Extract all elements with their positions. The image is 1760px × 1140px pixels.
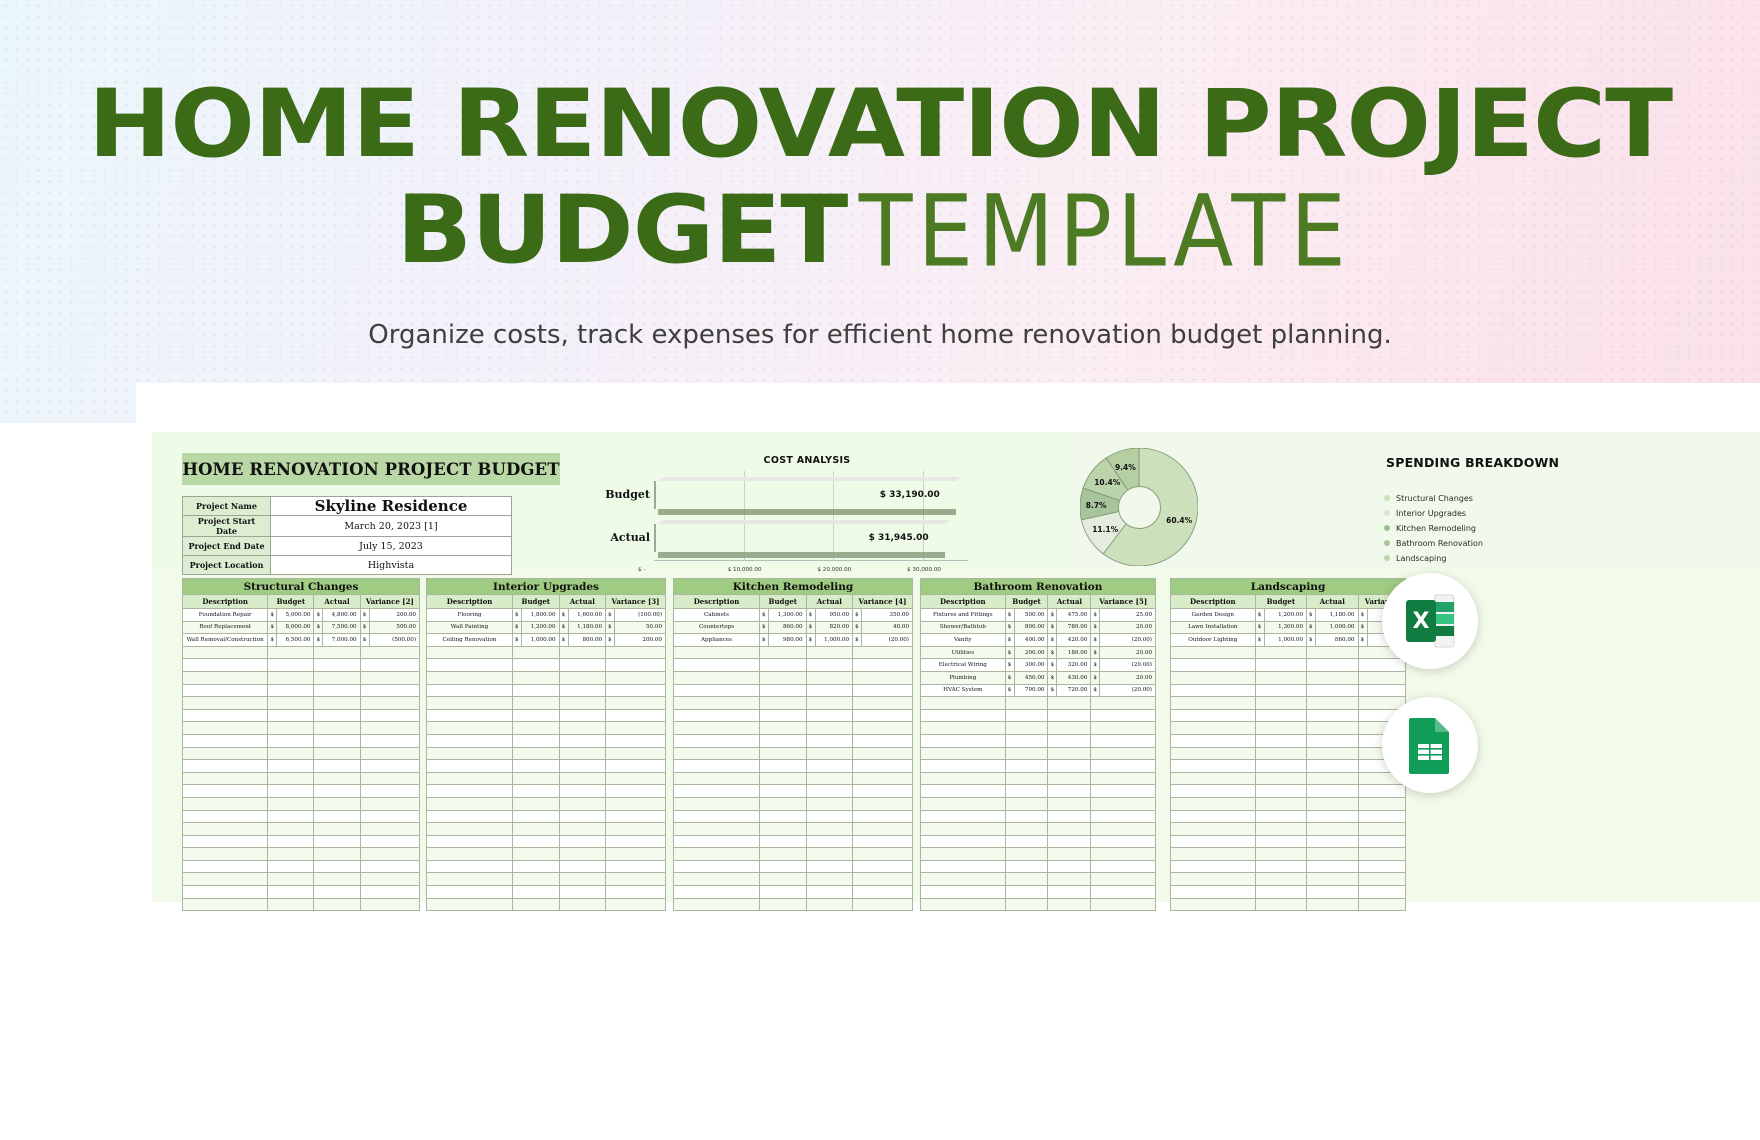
table-row-empty[interactable] <box>427 659 666 672</box>
cell-budget[interactable]: 6,500.00 <box>277 634 314 647</box>
cell-actual[interactable] <box>1048 722 1091 735</box>
cell-budget[interactable] <box>268 835 314 848</box>
cell-actual[interactable] <box>314 646 360 659</box>
table-row-empty[interactable] <box>674 734 913 747</box>
cell-description[interactable]: HVAC System <box>921 684 1006 697</box>
cell-description[interactable] <box>183 646 268 659</box>
cell-budget[interactable]: 500.00 <box>1014 609 1048 622</box>
table-row-empty[interactable] <box>183 886 420 899</box>
cell-description[interactable] <box>1171 860 1256 873</box>
cell-variance[interactable] <box>360 848 419 861</box>
cell-budget[interactable] <box>1005 760 1048 773</box>
cell-actual[interactable] <box>1307 734 1358 747</box>
cell-budget[interactable] <box>1255 873 1306 886</box>
cell-variance[interactable] <box>1091 797 1156 810</box>
cell-actual[interactable] <box>806 848 853 861</box>
table-row-empty[interactable] <box>921 722 1156 735</box>
table-row-empty[interactable] <box>183 898 420 911</box>
cell-budget[interactable] <box>268 659 314 672</box>
cell-variance[interactable] <box>1091 848 1156 861</box>
cell-actual[interactable]: 860.00 <box>1316 634 1358 647</box>
cell-variance[interactable] <box>853 747 913 760</box>
table-row[interactable]: Vanity$400.00$420.00$(20.00) <box>921 634 1156 647</box>
table-row-empty[interactable] <box>427 860 666 873</box>
table-row-empty[interactable] <box>427 684 666 697</box>
table-row[interactable]: Plumbing$450.00$430.00$20.00 <box>921 671 1156 684</box>
cell-variance[interactable] <box>360 873 419 886</box>
table-row-empty[interactable] <box>1171 722 1406 735</box>
table-row-empty[interactable] <box>183 835 420 848</box>
cell-actual[interactable] <box>806 747 853 760</box>
cell-budget[interactable] <box>1005 848 1048 861</box>
table-row-empty[interactable] <box>427 797 666 810</box>
cell-actual[interactable] <box>314 886 360 899</box>
column-header[interactable]: Variance [3] <box>606 595 666 609</box>
table-row-empty[interactable] <box>921 785 1156 798</box>
cell-variance[interactable] <box>360 785 419 798</box>
cell-variance[interactable]: 20.00 <box>1100 646 1156 659</box>
cell-actual[interactable]: 7,500.00 <box>323 621 360 634</box>
cell-variance[interactable] <box>606 734 666 747</box>
cell-actual[interactable]: 1,180.00 <box>568 621 606 634</box>
table-row-empty[interactable] <box>427 697 666 710</box>
cell-description[interactable]: Cabinets <box>674 609 760 622</box>
cell-actual[interactable] <box>1048 823 1091 836</box>
cell-description[interactable] <box>921 860 1006 873</box>
cell-budget[interactable]: 300.00 <box>1014 659 1048 672</box>
table-row-empty[interactable] <box>427 785 666 798</box>
table-row-empty[interactable] <box>1171 734 1406 747</box>
table-row-empty[interactable] <box>427 848 666 861</box>
cell-actual[interactable]: 4,800.00 <box>323 609 360 622</box>
cell-description[interactable] <box>674 860 760 873</box>
cell-budget[interactable] <box>760 659 807 672</box>
cell-actual[interactable]: 1,000.00 <box>815 634 853 647</box>
cell-variance[interactable] <box>853 697 913 710</box>
cell-actual[interactable] <box>806 760 853 773</box>
table-row-empty[interactable] <box>1171 848 1406 861</box>
cell-actual[interactable] <box>1307 860 1358 873</box>
cell-description[interactable] <box>183 684 268 697</box>
cell-variance[interactable]: 200.00 <box>615 634 666 647</box>
cell-description[interactable]: Wall Removal/Construction <box>183 634 268 647</box>
cell-variance[interactable] <box>1091 734 1156 747</box>
cell-actual[interactable] <box>559 886 606 899</box>
table-row-empty[interactable] <box>183 797 420 810</box>
project-info-value[interactable]: July 15, 2023 <box>271 537 512 556</box>
cell-budget[interactable] <box>1005 747 1048 760</box>
cell-actual[interactable] <box>806 898 853 911</box>
cell-actual[interactable] <box>314 785 360 798</box>
cell-variance[interactable] <box>1358 835 1406 848</box>
cell-variance[interactable]: 40.00 <box>862 621 913 634</box>
cell-budget[interactable] <box>1005 772 1048 785</box>
cell-budget[interactable] <box>513 722 560 735</box>
cell-budget[interactable] <box>268 646 314 659</box>
cell-variance[interactable] <box>1091 810 1156 823</box>
cell-variance[interactable] <box>853 873 913 886</box>
table-row-empty[interactable] <box>183 697 420 710</box>
cell-actual[interactable] <box>1307 810 1358 823</box>
table-row-empty[interactable] <box>1171 860 1406 873</box>
cell-budget[interactable] <box>513 709 560 722</box>
cell-description[interactable] <box>183 873 268 886</box>
cell-description[interactable] <box>674 848 760 861</box>
cell-description[interactable] <box>427 898 513 911</box>
cell-budget[interactable] <box>513 760 560 773</box>
cell-budget[interactable]: 200.00 <box>1014 646 1048 659</box>
cell-actual[interactable] <box>1048 709 1091 722</box>
table-row-empty[interactable] <box>427 873 666 886</box>
cell-budget[interactable] <box>1005 873 1048 886</box>
cell-description[interactable] <box>921 785 1006 798</box>
cell-budget[interactable] <box>760 860 807 873</box>
cell-actual[interactable] <box>806 860 853 873</box>
cell-variance[interactable] <box>360 659 419 672</box>
table-row-empty[interactable] <box>1171 898 1406 911</box>
table-row-empty[interactable] <box>1171 760 1406 773</box>
table-row-empty[interactable] <box>921 709 1156 722</box>
cell-description[interactable] <box>183 810 268 823</box>
cell-description[interactable]: Plumbing <box>921 671 1006 684</box>
cell-variance[interactable] <box>1091 772 1156 785</box>
cell-actual[interactable]: 7,000.00 <box>323 634 360 647</box>
table-row-empty[interactable] <box>674 873 913 886</box>
cell-actual[interactable] <box>314 697 360 710</box>
table-row-empty[interactable] <box>183 747 420 760</box>
cell-variance[interactable] <box>853 709 913 722</box>
cell-description[interactable] <box>427 835 513 848</box>
cell-variance[interactable] <box>1091 747 1156 760</box>
cell-actual[interactable] <box>1307 823 1358 836</box>
cell-description[interactable]: Lawn Installation <box>1171 621 1256 634</box>
cell-budget[interactable] <box>268 886 314 899</box>
table-row-empty[interactable] <box>1171 772 1406 785</box>
table-row-empty[interactable] <box>183 823 420 836</box>
table-row-empty[interactable] <box>427 671 666 684</box>
cell-actual[interactable]: 430.00 <box>1057 671 1091 684</box>
cell-budget[interactable] <box>268 823 314 836</box>
cell-description[interactable] <box>921 697 1006 710</box>
cell-variance[interactable] <box>853 659 913 672</box>
cell-budget[interactable] <box>513 848 560 861</box>
cell-description[interactable] <box>183 709 268 722</box>
table-row-empty[interactable] <box>1171 684 1406 697</box>
cell-variance[interactable] <box>360 835 419 848</box>
cell-budget[interactable] <box>513 772 560 785</box>
cell-budget[interactable] <box>760 886 807 899</box>
cell-variance[interactable] <box>853 835 913 848</box>
cell-actual[interactable] <box>1048 898 1091 911</box>
column-header[interactable]: Variance [5] <box>1091 595 1156 609</box>
legend-item[interactable]: Structural Changes <box>1384 492 1638 504</box>
cell-actual[interactable] <box>1048 747 1091 760</box>
cell-actual[interactable] <box>1307 684 1358 697</box>
table-row-empty[interactable] <box>1171 659 1406 672</box>
cell-description[interactable] <box>427 860 513 873</box>
cell-budget[interactable] <box>1255 823 1306 836</box>
cell-budget[interactable]: 980.00 <box>769 634 807 647</box>
cell-variance[interactable] <box>1091 709 1156 722</box>
cell-actual[interactable]: 420.00 <box>1057 634 1091 647</box>
cell-budget[interactable] <box>1255 860 1306 873</box>
cell-budget[interactable] <box>268 697 314 710</box>
cell-actual[interactable] <box>559 722 606 735</box>
cell-budget[interactable] <box>1005 722 1048 735</box>
cell-description[interactable] <box>183 760 268 773</box>
table-row-empty[interactable] <box>921 835 1156 848</box>
cell-actual[interactable] <box>1048 772 1091 785</box>
cell-budget[interactable] <box>1255 898 1306 911</box>
cell-description[interactable] <box>427 873 513 886</box>
table-row-empty[interactable] <box>183 848 420 861</box>
cell-variance[interactable] <box>1358 810 1406 823</box>
cell-variance[interactable] <box>606 659 666 672</box>
cell-description[interactable] <box>1171 760 1256 773</box>
cell-budget[interactable] <box>1005 785 1048 798</box>
cell-description[interactable] <box>427 659 513 672</box>
column-header[interactable]: Description <box>674 595 760 609</box>
cell-variance[interactable] <box>853 671 913 684</box>
cell-variance[interactable] <box>1358 797 1406 810</box>
cell-actual[interactable] <box>1048 860 1091 873</box>
table-row-empty[interactable] <box>427 747 666 760</box>
google-sheets-badge[interactable] <box>1382 697 1478 793</box>
cell-budget[interactable]: 8,000.00 <box>277 621 314 634</box>
cell-description[interactable]: Outdoor Lighting <box>1171 634 1256 647</box>
cell-variance[interactable] <box>606 898 666 911</box>
cell-actual[interactable] <box>806 810 853 823</box>
cell-variance[interactable]: 25.00 <box>1100 609 1156 622</box>
cell-description[interactable] <box>1171 886 1256 899</box>
cell-description[interactable] <box>921 709 1006 722</box>
cell-actual[interactable]: 475.00 <box>1057 609 1091 622</box>
cell-budget[interactable] <box>513 860 560 873</box>
cell-budget[interactable] <box>268 684 314 697</box>
table-row-empty[interactable] <box>1171 671 1406 684</box>
table-row-empty[interactable] <box>921 886 1156 899</box>
table-row-empty[interactable] <box>1171 810 1406 823</box>
cell-description[interactable]: Flooring <box>427 609 513 622</box>
cell-variance[interactable] <box>360 860 419 873</box>
cell-budget[interactable] <box>760 810 807 823</box>
table-row-empty[interactable] <box>1171 873 1406 886</box>
cell-actual[interactable]: 820.00 <box>815 621 853 634</box>
column-header[interactable]: Actual <box>559 595 606 609</box>
legend-item[interactable]: Bathroom Renovation <box>1384 537 1638 549</box>
cell-budget[interactable]: 1,200.00 <box>522 621 560 634</box>
cell-actual[interactable]: 1,180.00 <box>1316 609 1358 622</box>
cell-actual[interactable] <box>806 722 853 735</box>
cell-description[interactable]: Roof Replacement <box>183 621 268 634</box>
cell-description[interactable] <box>427 823 513 836</box>
cell-budget[interactable] <box>1255 810 1306 823</box>
cell-description[interactable] <box>1171 684 1256 697</box>
cell-description[interactable] <box>427 848 513 861</box>
cell-budget[interactable]: 1,000.00 <box>1264 634 1306 647</box>
cell-budget[interactable]: 1,300.00 <box>769 609 807 622</box>
cell-actual[interactable]: 800.00 <box>568 634 606 647</box>
cell-variance[interactable] <box>1091 873 1156 886</box>
table-row-empty[interactable] <box>921 823 1156 836</box>
cell-actual[interactable] <box>559 697 606 710</box>
cell-budget[interactable] <box>268 797 314 810</box>
cell-budget[interactable] <box>760 835 807 848</box>
cell-actual[interactable] <box>1307 722 1358 735</box>
table-row-empty[interactable] <box>674 785 913 798</box>
cell-description[interactable] <box>183 835 268 848</box>
table-row-empty[interactable] <box>183 810 420 823</box>
cell-variance[interactable] <box>853 734 913 747</box>
table-row-empty[interactable] <box>183 734 420 747</box>
cell-description[interactable] <box>921 734 1006 747</box>
table-row-empty[interactable] <box>427 835 666 848</box>
cell-budget[interactable] <box>268 810 314 823</box>
legend-item[interactable]: Landscaping <box>1384 552 1638 564</box>
column-header[interactable]: Budget <box>513 595 560 609</box>
cell-variance[interactable]: (20.00) <box>1100 684 1156 697</box>
table-row[interactable]: Foundation Repair$5,000.00$4,800.00$200.… <box>183 609 420 622</box>
cell-budget[interactable] <box>513 835 560 848</box>
cell-variance[interactable] <box>606 785 666 798</box>
cell-variance[interactable] <box>853 772 913 785</box>
cell-actual[interactable] <box>314 684 360 697</box>
cell-actual[interactable] <box>1048 835 1091 848</box>
cell-actual[interactable] <box>1307 835 1358 848</box>
legend-item[interactable]: Kitchen Remodeling <box>1384 522 1638 534</box>
cell-variance[interactable]: 200.00 <box>369 609 419 622</box>
cell-budget[interactable] <box>760 709 807 722</box>
cell-budget[interactable] <box>1005 810 1048 823</box>
cell-description[interactable] <box>427 684 513 697</box>
table-row[interactable]: Cabinets$1,300.00$950.00$350.00 <box>674 609 913 622</box>
cell-budget[interactable] <box>1255 659 1306 672</box>
cell-budget[interactable] <box>268 709 314 722</box>
cell-actual[interactable] <box>1048 734 1091 747</box>
table-row[interactable]: Appliances$980.00$1,000.00$(20.00) <box>674 634 913 647</box>
cell-actual[interactable]: 720.00 <box>1057 684 1091 697</box>
cell-actual[interactable] <box>559 747 606 760</box>
cell-description[interactable] <box>1171 671 1256 684</box>
cell-actual[interactable] <box>1307 785 1358 798</box>
table-row-empty[interactable] <box>921 898 1156 911</box>
table-row-empty[interactable] <box>1171 797 1406 810</box>
column-header[interactable]: Description <box>427 595 513 609</box>
table-row-empty[interactable] <box>921 797 1156 810</box>
cell-budget[interactable] <box>513 797 560 810</box>
column-header[interactable]: Budget <box>760 595 807 609</box>
cell-actual[interactable] <box>314 873 360 886</box>
table-row-empty[interactable] <box>1171 747 1406 760</box>
cell-budget[interactable] <box>760 898 807 911</box>
table-row[interactable]: Electrical Wiring$300.00$320.00$(20.00) <box>921 659 1156 672</box>
cell-budget[interactable]: 1,800.00 <box>522 609 560 622</box>
cell-actual[interactable] <box>806 646 853 659</box>
cell-actual[interactable] <box>559 760 606 773</box>
cell-actual[interactable] <box>1307 772 1358 785</box>
cell-budget[interactable]: 700.00 <box>1014 684 1048 697</box>
cell-budget[interactable]: 1,200.00 <box>1264 609 1306 622</box>
cell-description[interactable] <box>1171 848 1256 861</box>
cell-variance[interactable] <box>853 760 913 773</box>
table-row[interactable]: Garden Design$1,200.00$1,180.00$ <box>1171 609 1406 622</box>
cell-actual[interactable] <box>314 671 360 684</box>
cell-description[interactable] <box>674 760 760 773</box>
cell-budget[interactable]: 860.00 <box>769 621 807 634</box>
cell-description[interactable]: Fixtures and Fittings <box>921 609 1006 622</box>
cell-budget[interactable] <box>760 785 807 798</box>
cell-actual[interactable] <box>1307 797 1358 810</box>
cell-description[interactable] <box>674 873 760 886</box>
table-row-empty[interactable] <box>1171 709 1406 722</box>
cell-variance[interactable] <box>853 886 913 899</box>
cell-description[interactable] <box>427 886 513 899</box>
cell-description[interactable] <box>674 671 760 684</box>
cell-variance[interactable] <box>1358 860 1406 873</box>
table-row[interactable]: Ceiling Renovation$1,000.00$800.00$200.0… <box>427 634 666 647</box>
cell-description[interactable] <box>1171 873 1256 886</box>
cell-variance[interactable] <box>606 860 666 873</box>
table-row-empty[interactable] <box>1171 697 1406 710</box>
cell-description[interactable]: Appliances <box>674 634 760 647</box>
cell-description[interactable] <box>1171 810 1256 823</box>
cell-budget[interactable]: 5,000.00 <box>277 609 314 622</box>
cell-description[interactable] <box>1171 797 1256 810</box>
cell-variance[interactable] <box>606 823 666 836</box>
cell-actual[interactable] <box>1048 873 1091 886</box>
cell-actual[interactable] <box>314 760 360 773</box>
cell-budget[interactable] <box>1005 886 1048 899</box>
cell-actual[interactable] <box>314 823 360 836</box>
table-row-empty[interactable] <box>183 722 420 735</box>
cell-actual[interactable] <box>1048 886 1091 899</box>
table-row-empty[interactable] <box>674 797 913 810</box>
cell-variance[interactable] <box>606 722 666 735</box>
cell-actual[interactable] <box>314 860 360 873</box>
cell-description[interactable] <box>1171 747 1256 760</box>
cell-description[interactable] <box>921 760 1006 773</box>
cell-description[interactable] <box>427 797 513 810</box>
cell-actual[interactable] <box>559 646 606 659</box>
cell-description[interactable] <box>674 835 760 848</box>
cell-variance[interactable] <box>360 760 419 773</box>
cell-budget[interactable] <box>1005 860 1048 873</box>
cell-actual[interactable] <box>806 873 853 886</box>
cell-budget[interactable]: 450.00 <box>1014 671 1048 684</box>
cell-budget[interactable] <box>268 734 314 747</box>
cell-budget[interactable] <box>1255 734 1306 747</box>
cell-budget[interactable] <box>268 772 314 785</box>
cell-description[interactable] <box>921 797 1006 810</box>
cell-description[interactable] <box>427 722 513 735</box>
cell-description[interactable] <box>427 747 513 760</box>
cell-description[interactable] <box>921 747 1006 760</box>
cell-actual[interactable] <box>314 734 360 747</box>
cell-variance[interactable] <box>606 747 666 760</box>
cell-description[interactable] <box>921 810 1006 823</box>
column-header[interactable]: Description <box>921 595 1006 609</box>
cell-variance[interactable] <box>853 797 913 810</box>
cell-description[interactable]: Utilities <box>921 646 1006 659</box>
cell-description[interactable] <box>921 848 1006 861</box>
cell-description[interactable] <box>427 785 513 798</box>
cell-budget[interactable] <box>268 760 314 773</box>
table-row-empty[interactable] <box>427 772 666 785</box>
cell-variance[interactable] <box>1091 898 1156 911</box>
cell-description[interactable] <box>183 860 268 873</box>
cell-actual[interactable] <box>314 810 360 823</box>
cell-budget[interactable] <box>1005 898 1048 911</box>
